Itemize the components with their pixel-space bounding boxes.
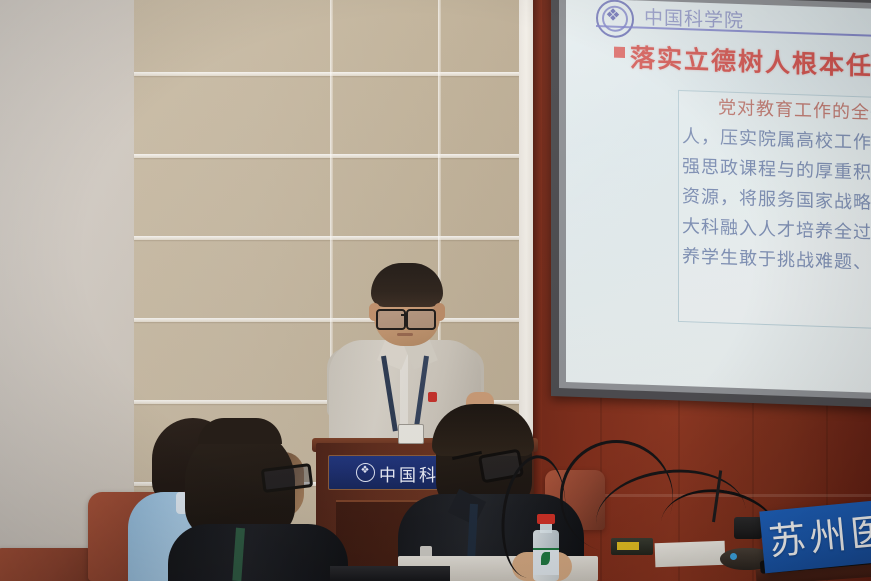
water-bottle-leaf-icon xyxy=(541,552,550,565)
speaker-hair xyxy=(371,263,443,307)
conference-room-photo: ❖ 中国科学院 落实立德树人根本任务 党对教育工作的全想铸魂育人，压实院属高校工… xyxy=(0,0,871,581)
yellow-label-sticker xyxy=(617,542,639,550)
desk-front-edge xyxy=(330,566,450,581)
slide-heading: 落实立德树人根本任务 xyxy=(630,38,871,83)
cas-emblem-glyph-icon: ❖ xyxy=(603,4,623,27)
wall-panel-seam xyxy=(134,154,534,158)
chair xyxy=(0,548,97,581)
attendee-black-polo-left-torso xyxy=(168,524,348,581)
attendee-black-polo-left-hair xyxy=(198,418,282,444)
speaker-party-emblem-pin-icon xyxy=(428,392,437,402)
slide-body-text: 党对教育工作的全想铸魂育人，压实院属高校工作体系。加强思政课程与的厚重积淀和丰富… xyxy=(682,92,871,281)
slide-body-rest: 想铸魂育人，压实院属高校工作体系。加强思政课程与的厚重积淀和丰富资源，将服务国家… xyxy=(682,103,871,275)
speaker-badge xyxy=(398,424,424,444)
speaker-glasses-lens-right-icon xyxy=(406,309,436,330)
wall-panel-seam xyxy=(134,72,534,76)
wall-panel-seam xyxy=(134,318,534,322)
speakerphone-led-indicator-icon xyxy=(730,553,737,560)
table-name-sign-text: 苏州医 xyxy=(766,501,871,566)
podium-cas-emblem-glyph-icon: ❖ xyxy=(357,462,373,480)
speaker-glasses-lens-left-icon xyxy=(376,309,406,330)
slide-heading-bullet-icon xyxy=(614,47,625,58)
paper-sheet xyxy=(655,541,726,567)
speaker-mouth xyxy=(397,333,413,336)
speaker-glasses-bridge-icon xyxy=(401,314,407,316)
slide-body-highlight: 党对教育工作的全 xyxy=(718,97,870,123)
water-bottle-cap xyxy=(537,514,555,524)
projection-screen-surface: ❖ 中国科学院 落实立德树人根本任务 党对教育工作的全想铸魂育人，压实院属高校工… xyxy=(566,0,871,393)
gooseneck-microphone-base xyxy=(734,517,762,539)
wall-panel-seam xyxy=(134,236,534,240)
